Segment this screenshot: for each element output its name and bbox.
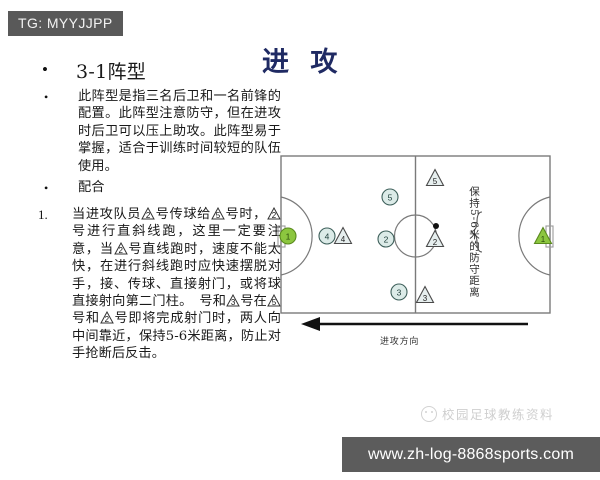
sub-bullet-text: 配合 [78, 179, 281, 196]
heading-row: • 3-1阵型 [36, 60, 281, 84]
inline-triangle-icon: 2 [100, 311, 114, 324]
pitch-circle-player-2: 2 [378, 231, 394, 247]
inline-triangle-label: 5 [211, 212, 225, 220]
inline-triangle-icon: 5 [211, 207, 225, 220]
para-segment: 号传球给 [155, 207, 211, 222]
watermark: 校园足球教练资料 [421, 404, 554, 423]
inline-triangle-icon: 2 [114, 242, 128, 255]
player-label: 3 [423, 294, 428, 303]
para-segment: 号和 [72, 311, 100, 326]
ball-icon [433, 223, 439, 229]
inline-triangle-icon: 2 [141, 207, 155, 220]
content-column: • 3-1阵型 • 此阵型是指三名后卫和一名前锋的配置。此阵型注意防守，但在进攻… [36, 60, 281, 365]
player-label: 5 [433, 177, 438, 186]
defensive-distance-annotation: 保持5-6米的防守距离 [468, 186, 480, 298]
inline-triangle-label: 2 [114, 247, 128, 255]
inline-triangle-label: 2 [100, 316, 114, 324]
list-number: 1. [36, 206, 72, 224]
bullet-icon: • [36, 60, 76, 80]
attack-direction-arrow [300, 316, 530, 332]
bullet-icon: • [36, 179, 78, 197]
pitch-circle-player-3: 3 [391, 284, 407, 300]
para-segment: 当进攻队员 [72, 207, 141, 222]
slide-page: TG: MYYJJPP 进 攻 • 3-1阵型 • 此阵型是指三名后卫和一名前锋… [0, 0, 600, 480]
numbered-item-text: 当进攻队员2号传球给5号时，2号进行直斜线跑，这里一定要注意，当2号直线跑时，速… [72, 206, 281, 363]
heading-text: 3-1阵型 [76, 60, 281, 84]
sub-bullet-row: • 配合 [36, 179, 281, 197]
player-label: 3 [397, 287, 402, 297]
para-segment: 号在 [240, 294, 267, 309]
player-label: 1 [286, 231, 291, 241]
player-label: 2 [384, 234, 389, 244]
club-logo-icon [421, 406, 437, 422]
pitch-circle-player-1: 1 [280, 228, 296, 244]
pitch-circle-player-5: 5 [382, 189, 398, 205]
player-label: 5 [388, 192, 393, 202]
player-label: 1 [541, 235, 546, 244]
watermark-text: 校园足球教练资料 [442, 404, 554, 423]
pitch-circle-player-4: 4 [319, 228, 335, 244]
inline-triangle-label: 2 [141, 212, 155, 220]
para-segment: 号时， [225, 207, 267, 222]
numbered-item-row: 1. 当进攻队员2号传球给5号时，2号进行直斜线跑，这里一定要注意，当2号直线跑… [36, 206, 281, 363]
description-text: 此阵型是指三名后卫和一名前锋的配置。此阵型注意防守，但在进攻时后卫可以压上助攻。… [78, 88, 281, 175]
attack-direction-label: 进攻方向 [380, 334, 419, 347]
pitch-diagram: 1452345231 [277, 152, 554, 317]
bullet-icon: • [36, 88, 78, 106]
inline-triangle-label: 3 [226, 299, 240, 307]
inline-triangle-icon: 3 [226, 294, 240, 307]
player-label: 4 [325, 231, 330, 241]
player-label: 4 [341, 235, 346, 244]
player-label: 2 [433, 238, 438, 247]
description-row: • 此阵型是指三名后卫和一名前锋的配置。此阵型注意防守，但在进攻时后卫可以压上助… [36, 88, 281, 175]
tg-badge: TG: MYYJJPP [8, 11, 123, 36]
url-bar: www.zh-log-8868sports.com [342, 437, 600, 472]
